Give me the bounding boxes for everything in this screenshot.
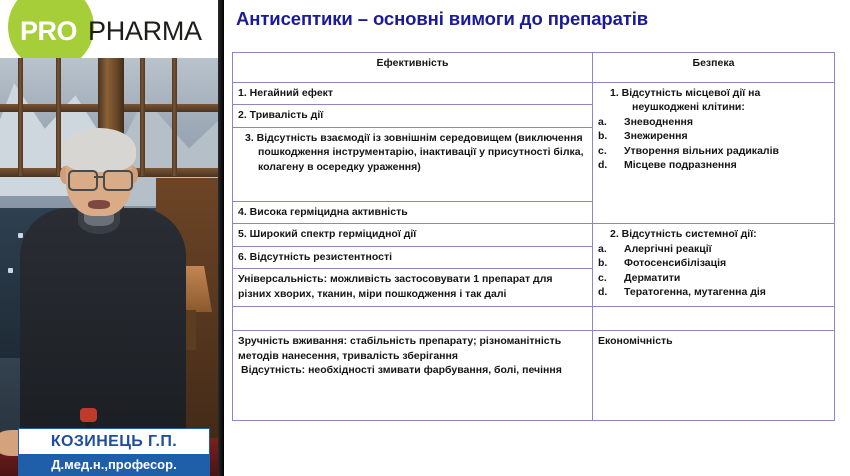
logo-bar: PRO PHARMA	[0, 0, 218, 58]
list-text: Зневоднення	[624, 115, 829, 129]
cell-safety-section-1: 1. Відсутність місцевої дії на неушкодже…	[593, 83, 835, 224]
list-text: Фотосенсибілізація	[624, 256, 829, 270]
cell-convenience-absence: Зручність вживання: стабільність препара…	[233, 331, 593, 421]
safety-s1-item-d: d. Місцеве подразнення	[598, 158, 829, 172]
list-text: Утворення вільних радикалів	[624, 144, 829, 158]
cell-empty-left	[233, 307, 593, 331]
glasses-icon	[103, 170, 133, 191]
cell-universality: Універсальність: можливість застосовуват…	[233, 269, 593, 307]
list-letter: b.	[598, 129, 624, 143]
safety-s1-item-c: c. Утворення вільних радикалів	[598, 144, 829, 158]
logo-pro-text: PRO	[20, 16, 77, 47]
cell-safety-section-2: 2. Відсутність системної дії: a. Алергіч…	[593, 224, 835, 307]
requirements-table: Ефективність Безпека 1. Негайний ефект 1…	[232, 52, 835, 421]
cell-item-2: 2. Тривалість дії	[233, 105, 593, 127]
column-header-efficiency: Ефективність	[233, 53, 593, 83]
glasses-bridge	[94, 176, 103, 178]
list-text: Знежирення	[624, 129, 829, 143]
cell-economy: Економічність	[593, 331, 835, 421]
cell-item-1: 1. Негайний ефект	[233, 83, 593, 105]
speaker-video-panel[interactable]: PRO PHARMA КОЗИНЕЦЬ Г.П. Д.мед.н.,профес…	[0, 0, 218, 476]
panel-divider	[218, 0, 224, 476]
table-row-spacer	[233, 307, 835, 331]
safety-s1-title: 1. Відсутність місцевої дії на	[598, 86, 829, 100]
safety-s1-title-cont: неушкоджені клітини:	[598, 100, 829, 114]
list-text: Алергічні реакції	[624, 242, 829, 256]
cell-absence-text: Відсутність: необхідності змивати фарбув…	[238, 363, 587, 377]
list-letter: c.	[598, 271, 624, 285]
safety-s2-item-a: a. Алергічні реакції	[598, 242, 829, 256]
table-row: 5. Широкий спектр герміцидної дії 2. Від…	[233, 224, 835, 246]
speaker-figure	[0, 58, 218, 476]
speaker-torso	[20, 208, 186, 438]
speaker-title: Д.мед.н.,професор.	[18, 454, 210, 476]
list-letter: b.	[598, 256, 624, 270]
speaker-mouth	[88, 200, 110, 209]
list-letter: d.	[598, 158, 624, 172]
table-row: 1. Негайний ефект 1. Відсутність місцево…	[233, 83, 835, 105]
cell-item-4: 4. Висока герміцидна активність	[233, 201, 593, 223]
table-row: Зручність вживання: стабільність препара…	[233, 331, 835, 421]
cell-item-3-text: 3. Відсутність взаємодії із зовнішнім се…	[238, 131, 587, 174]
list-text: Місцеве подразнення	[624, 158, 829, 172]
cell-item-3: 3. Відсутність взаємодії із зовнішнім се…	[233, 127, 593, 201]
glasses-icon	[68, 170, 98, 191]
cell-item-5: 5. Широкий спектр герміцидної дії	[233, 224, 593, 246]
list-text: Дерматити	[624, 271, 829, 285]
microphone-icon	[80, 408, 97, 422]
speaker-nameplate: КОЗИНЕЦЬ Г.П. Д.мед.н.,професор.	[18, 428, 210, 476]
safety-s1-item-a: a. Зневоднення	[598, 115, 829, 129]
cell-empty-right	[593, 307, 835, 331]
safety-s2-item-d: d. Тератогенна, мутагенна дія	[598, 285, 829, 299]
safety-s1-item-b: b. Знежирення	[598, 129, 829, 143]
column-header-safety: Безпека	[593, 53, 835, 83]
cell-item-6: 6. Відсутність резистентності	[233, 246, 593, 268]
slide-content: Антисептики – основні вимоги до препарат…	[224, 0, 850, 476]
video-background-scene	[0, 58, 218, 476]
list-letter: a.	[598, 115, 624, 129]
list-text: Тератогенна, мутагенна дія	[624, 285, 829, 299]
safety-s2-item-b: b. Фотосенсибілізація	[598, 256, 829, 270]
slide-title: Антисептики – основні вимоги до препарат…	[236, 8, 648, 30]
safety-s2-title: 2. Відсутність системної дії:	[598, 227, 829, 241]
logo-pharma-text: PHARMA	[88, 16, 202, 47]
list-letter: c.	[598, 144, 624, 158]
presentation-screen: PRO PHARMA КОЗИНЕЦЬ Г.П. Д.мед.н.,профес…	[0, 0, 850, 476]
cell-convenience-text: Зручність вживання: стабільність препара…	[238, 334, 587, 363]
list-letter: d.	[598, 285, 624, 299]
safety-s2-item-c: c. Дерматити	[598, 271, 829, 285]
speaker-hair	[62, 128, 136, 172]
list-letter: a.	[598, 242, 624, 256]
table-header-row: Ефективність Безпека	[233, 53, 835, 83]
speaker-name: КОЗИНЕЦЬ Г.П.	[18, 428, 210, 454]
